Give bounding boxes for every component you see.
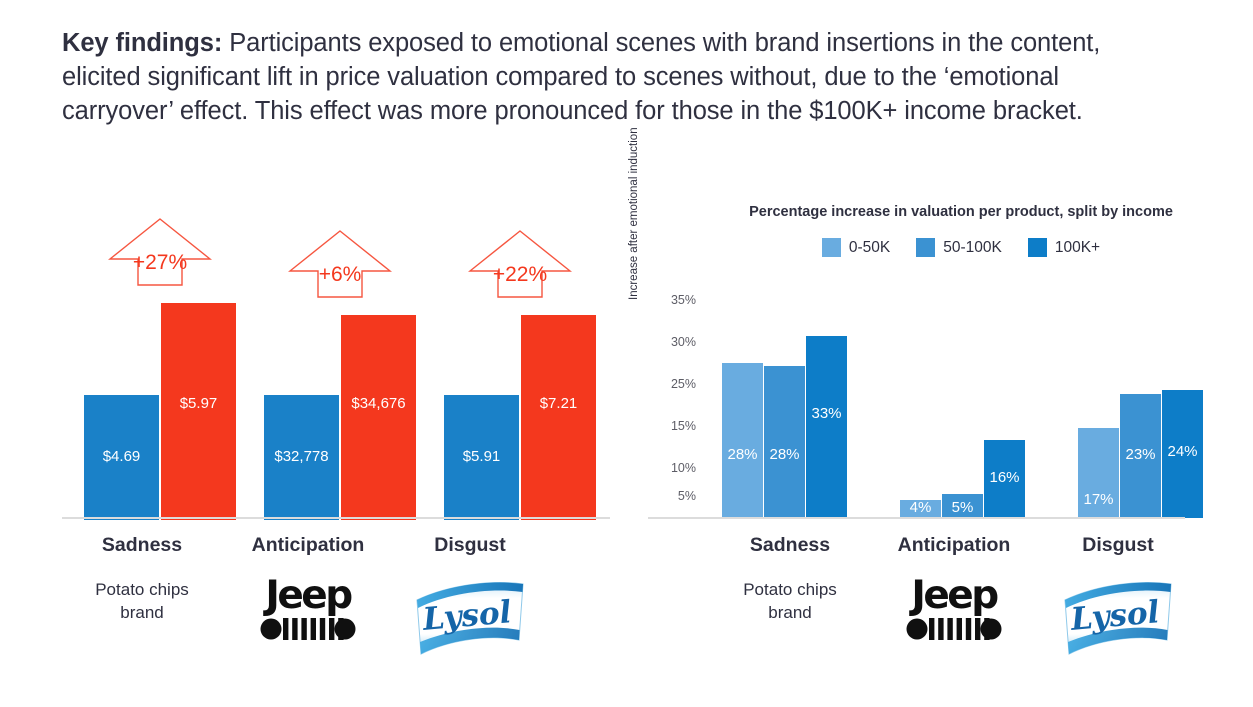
lift-percent-label: +27%	[106, 251, 214, 275]
brand-cell: Lysol	[1028, 578, 1208, 667]
income-bar[interactable]: 28%	[722, 363, 763, 518]
brand-cell: Potato chipsbrand	[52, 578, 232, 624]
brand-name-text: Potato chipsbrand	[52, 578, 232, 624]
lysol-banner-icon: Lysol	[1059, 578, 1177, 662]
brand-name-text: Potato chipsbrand	[700, 578, 880, 624]
lift-arrow-annotation: +6%	[286, 227, 394, 305]
legend-item[interactable]: 100K+	[1028, 238, 1100, 257]
jeep-grille-icon	[906, 616, 1002, 647]
income-bar[interactable]: 23%	[1120, 394, 1161, 518]
bar-value-label: $7.21	[521, 395, 596, 412]
valuation-chart-baseline	[62, 517, 610, 519]
y-axis-tick-label: 25%	[654, 377, 696, 391]
bar-without-insertion[interactable]: $5.91	[444, 395, 519, 520]
legend-item[interactable]: 50-100K	[916, 238, 1002, 257]
jeep-logo: Jeep	[260, 578, 356, 647]
lift-arrow-annotation: +27%	[106, 215, 214, 293]
income-split-chart-plot: 28%28%33%4%5%16%17%23%24%	[704, 290, 1209, 518]
income-bar[interactable]: 24%	[1162, 390, 1203, 518]
jeep-logo: Jeep	[906, 578, 1002, 647]
brand-name-line1: Potato chips	[700, 578, 880, 601]
jeep-wordmark: Jeep	[260, 578, 356, 614]
brand-cell: Jeep	[864, 578, 1044, 647]
income-bar-value-label: 28%	[760, 446, 809, 463]
income-bar-value-label: 16%	[980, 469, 1029, 486]
income-bar-value-label: 33%	[802, 405, 851, 422]
income-bar[interactable]: 4%	[900, 500, 941, 518]
brand-cell: Jeep	[218, 578, 398, 647]
bar-value-label: $5.97	[161, 395, 236, 412]
legend-swatch	[1028, 238, 1047, 257]
brand-name-line1: Potato chips	[52, 578, 232, 601]
income-bar-group: 17%23%24%	[1078, 290, 1208, 518]
income-split-y-axis-ticks: 35%30%25%15%10%5%	[654, 290, 696, 518]
income-bar[interactable]: 5%	[942, 494, 983, 518]
jeep-grille-icon	[260, 616, 356, 647]
headline-lead: Key findings:	[62, 29, 222, 57]
y-axis-tick-label: 5%	[654, 489, 696, 503]
legend-label: 0-50K	[849, 239, 890, 257]
y-axis-tick-label: 35%	[654, 293, 696, 307]
income-bar[interactable]: 16%	[984, 440, 1025, 518]
bar-without-insertion[interactable]: $4.69	[84, 395, 159, 520]
bar-with-insertion[interactable]: $34,676	[341, 315, 416, 520]
income-bar-value-label: 24%	[1158, 443, 1207, 460]
brand-name-line2: brand	[700, 601, 880, 624]
bar-value-label: $34,676	[341, 395, 416, 412]
legend-item[interactable]: 0-50K	[822, 238, 890, 257]
brand-cell: Lysol	[380, 578, 560, 667]
income-bar-group: 4%5%16%	[900, 290, 1030, 518]
income-split-chart-title: Percentage increase in valuation per pro…	[706, 204, 1216, 220]
y-axis-tick-label: 15%	[654, 419, 696, 433]
bar-value-label: $32,778	[264, 448, 339, 465]
bar-with-insertion[interactable]: $7.21	[521, 315, 596, 520]
legend-label: 50-100K	[943, 239, 1002, 257]
income-bar[interactable]: 28%	[764, 366, 805, 518]
lysol-logo: Lysol	[411, 578, 529, 667]
valuation-chart-plot: $4.69$5.97+27%$32,778$34,676+6%$5.91$7.2…	[62, 195, 632, 520]
lift-arrow-annotation: +22%	[466, 227, 574, 305]
legend-swatch	[916, 238, 935, 257]
y-axis-tick-label: 10%	[654, 461, 696, 475]
bar-without-insertion[interactable]: $32,778	[264, 395, 339, 520]
lift-percent-label: +22%	[466, 263, 574, 287]
brand-cell: Potato chipsbrand	[700, 578, 880, 624]
income-split-chart-legend: 0-50K50-100K100K+	[706, 238, 1216, 257]
income-bar-value-label: 5%	[938, 499, 987, 516]
bar-with-insertion[interactable]: $5.97	[161, 303, 236, 520]
income-bar[interactable]: 33%	[806, 336, 847, 518]
lysol-logo: Lysol	[1059, 578, 1177, 667]
income-split-chart-baseline	[648, 517, 1185, 519]
legend-swatch	[822, 238, 841, 257]
key-findings-headline: Key findings: Participants exposed to em…	[62, 26, 1142, 128]
category-label-disgust: Disgust	[1008, 534, 1228, 557]
brand-name-line2: brand	[52, 601, 232, 624]
income-bar-group: 28%28%33%	[722, 290, 852, 518]
lysol-banner-icon: Lysol	[411, 578, 529, 662]
income-split-y-axis-label: Increase after emotional induction	[628, 100, 640, 300]
y-axis-tick-label: 30%	[654, 335, 696, 349]
lift-percent-label: +6%	[286, 263, 394, 287]
income-bar[interactable]: 17%	[1078, 428, 1119, 518]
bar-value-label: $4.69	[84, 448, 159, 465]
category-label-disgust: Disgust	[360, 534, 580, 557]
income-bar-value-label: 17%	[1074, 491, 1123, 508]
bar-value-label: $5.91	[444, 448, 519, 465]
jeep-wordmark: Jeep	[906, 578, 1002, 614]
legend-label: 100K+	[1055, 239, 1100, 257]
